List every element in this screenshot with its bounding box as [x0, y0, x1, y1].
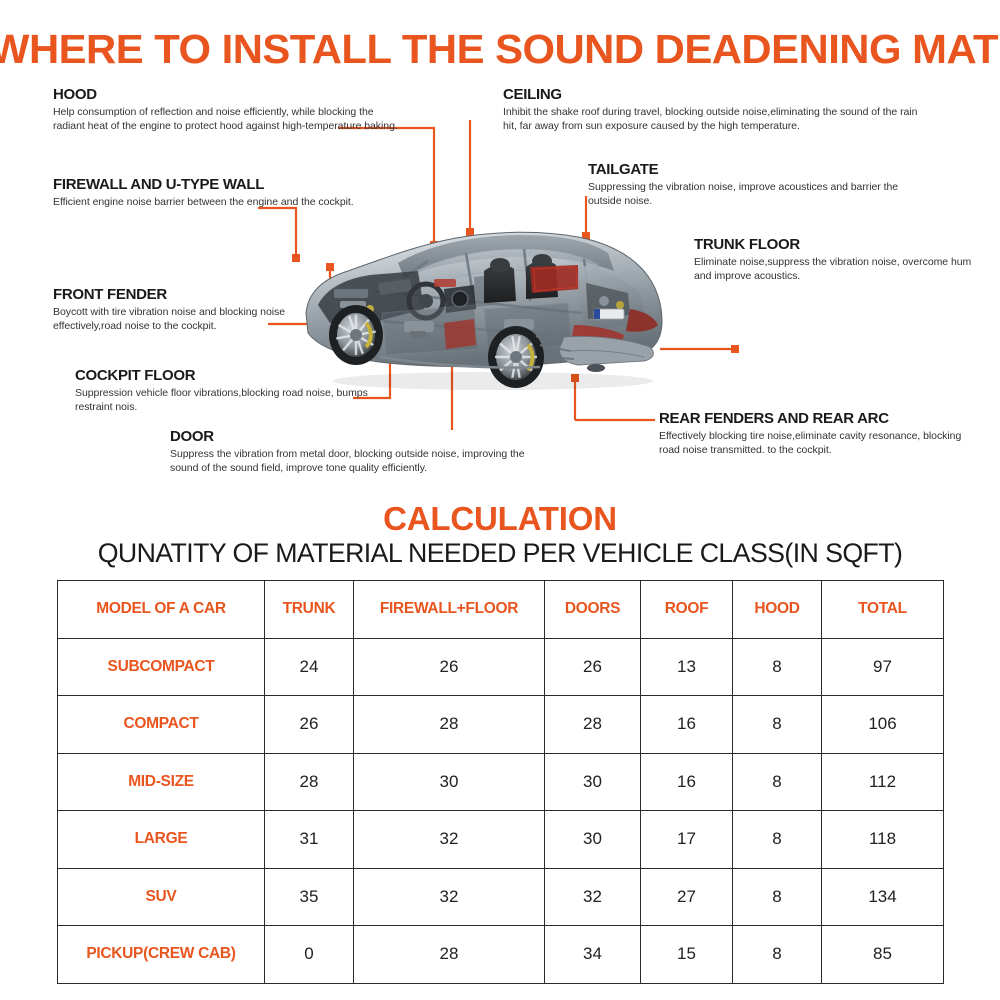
headrest-front: [490, 258, 510, 272]
table-cell-hood: 8: [733, 926, 822, 984]
table-cell-roof: 27: [641, 868, 733, 926]
table-header-cell-roof: ROOF: [641, 581, 733, 639]
callout-firewall-title: FIREWALL AND U-TYPE WALL: [53, 176, 383, 193]
callout-ceiling-title: CEILING: [503, 86, 933, 103]
table-row: SUV353232278134: [58, 868, 944, 926]
callout-cockpit-floor-body: Suppression vehicle floor vibrations,blo…: [75, 387, 375, 415]
table-cell-firewall-floor: 28: [354, 696, 545, 754]
calculation-table-wrap: MODEL OF A CARTRUNKFIREWALL+FLOORDOORSRO…: [57, 580, 943, 984]
table-cell-roof: 13: [641, 638, 733, 696]
table-cell-doors: 26: [545, 638, 641, 696]
marker-rear-fender: [731, 345, 739, 353]
table-cell-firewall-floor: 30: [354, 753, 545, 811]
table-cell-model: SUV: [58, 868, 265, 926]
table-cell-model: LARGE: [58, 811, 265, 869]
callout-cockpit-floor-title: COCKPIT FLOOR: [75, 367, 375, 384]
table-cell-doors: 32: [545, 868, 641, 926]
table-row: COMPACT262828168106: [58, 696, 944, 754]
headrest-rear: [532, 254, 552, 268]
calculation-heading: CALCULATION: [0, 500, 1000, 538]
table-cell-total: 106: [822, 696, 944, 754]
table-cell-doors: 30: [545, 811, 641, 869]
callout-ceiling: CEILING Inhibit the shake roof during tr…: [503, 86, 933, 134]
table-header-cell-doors: DOORS: [545, 581, 641, 639]
table-cell-trunk: 26: [265, 696, 354, 754]
table-cell-trunk: 24: [265, 638, 354, 696]
car-ground-shadow: [333, 372, 653, 390]
table-cell-doors: 28: [545, 696, 641, 754]
table-header-cell-hood: HOOD: [733, 581, 822, 639]
table-cell-firewall-floor: 32: [354, 811, 545, 869]
exhaust-tip: [587, 364, 605, 372]
table-cell-total: 134: [822, 868, 944, 926]
table-cell-roof: 15: [641, 926, 733, 984]
table-header-cell-model-of-a-car: MODEL OF A CAR: [58, 581, 265, 639]
callout-tailgate-title: TAILGATE: [588, 161, 918, 178]
callout-front-fender: FRONT FENDER Boycott with tire vibration…: [53, 286, 333, 334]
table-row: MID-SIZE283030168112: [58, 753, 944, 811]
callout-hood-body: Help consumption of reflection and noise…: [53, 106, 403, 134]
table-cell-model: MID-SIZE: [58, 753, 265, 811]
callout-trunk-floor-title: TRUNK FLOOR: [694, 236, 974, 253]
table-cell-hood: 8: [733, 811, 822, 869]
table-cell-hood: 8: [733, 638, 822, 696]
table-cell-firewall-floor: 28: [354, 926, 545, 984]
table-header-cell-trunk: TRUNK: [265, 581, 354, 639]
page-title: WHERE TO INSTALL THE SOUND DEADENING MAT…: [0, 26, 1000, 73]
callout-front-fender-title: FRONT FENDER: [53, 286, 333, 303]
table-cell-firewall-floor: 26: [354, 638, 545, 696]
callout-rear-fenders-body: Effectively blocking tire noise,eliminat…: [659, 430, 979, 458]
door-mechanism-front: [404, 321, 434, 332]
callout-door: DOOR Suppress the vibration from metal d…: [170, 428, 550, 476]
table-cell-roof: 17: [641, 811, 733, 869]
calculation-table: MODEL OF A CARTRUNKFIREWALL+FLOORDOORSRO…: [57, 580, 944, 984]
table-cell-total: 112: [822, 753, 944, 811]
callout-rear-fenders-title: REAR FENDERS AND REAR ARC: [659, 410, 979, 427]
table-cell-trunk: 0: [265, 926, 354, 984]
table-row: LARGE313230178118: [58, 811, 944, 869]
callout-hood: HOOD Help consumption of reflection and …: [53, 86, 403, 134]
table-cell-doors: 30: [545, 753, 641, 811]
callout-trunk-floor-body: Eliminate noise,suppress the vibration n…: [694, 256, 974, 284]
callout-door-title: DOOR: [170, 428, 550, 445]
callout-firewall-body: Efficient engine noise barrier between t…: [53, 196, 383, 210]
table-row: SUBCOMPACT24262613897: [58, 638, 944, 696]
table-cell-doors: 34: [545, 926, 641, 984]
front-wheel: [329, 305, 383, 365]
table-cell-firewall-floor: 32: [354, 868, 545, 926]
callout-hood-title: HOOD: [53, 86, 403, 103]
infographic-page: WHERE TO INSTALL THE SOUND DEADENING MAT…: [0, 0, 1000, 1000]
table-cell-model: PICKUP(CREW CAB): [58, 926, 265, 984]
rear-wheel: [488, 326, 544, 388]
callout-front-fender-body: Boycott with tire vibration noise and bl…: [53, 306, 333, 334]
callout-tailgate: TAILGATE Suppressing the vibration noise…: [588, 161, 918, 209]
table-header-cell-total: TOTAL: [822, 581, 944, 639]
callout-trunk-floor: TRUNK FLOOR Eliminate noise,suppress the…: [694, 236, 974, 284]
table-cell-trunk: 28: [265, 753, 354, 811]
table-cell-total: 118: [822, 811, 944, 869]
callout-rear-fenders: REAR FENDERS AND REAR ARC Effectively bl…: [659, 410, 979, 458]
table-cell-model: SUBCOMPACT: [58, 638, 265, 696]
table-header-cell-firewall-floor: FIREWALL+FLOOR: [354, 581, 545, 639]
table-cell-hood: 8: [733, 868, 822, 926]
callout-tailgate-body: Suppressing the vibration noise, improve…: [588, 181, 918, 209]
table-cell-roof: 16: [641, 753, 733, 811]
table-cell-total: 97: [822, 638, 944, 696]
callout-cockpit-floor: COCKPIT FLOOR Suppression vehicle floor …: [75, 367, 375, 415]
table-cell-total: 85: [822, 926, 944, 984]
callout-door-body: Suppress the vibration from metal door, …: [170, 448, 550, 476]
table-cell-hood: 8: [733, 696, 822, 754]
table-cell-roof: 16: [641, 696, 733, 754]
table-row: PICKUP(CREW CAB)0283415885: [58, 926, 944, 984]
callout-ceiling-body: Inhibit the shake roof during travel, bl…: [503, 106, 933, 134]
callout-firewall: FIREWALL AND U-TYPE WALL Efficient engin…: [53, 176, 383, 210]
table-cell-hood: 8: [733, 753, 822, 811]
calculation-subheading: QUNATITY OF MATERIAL NEEDED PER VEHICLE …: [5, 538, 995, 569]
table-cell-trunk: 35: [265, 868, 354, 926]
table-cell-model: COMPACT: [58, 696, 265, 754]
table-header-row: MODEL OF A CARTRUNKFIREWALL+FLOORDOORSRO…: [58, 581, 944, 639]
table-cell-trunk: 31: [265, 811, 354, 869]
